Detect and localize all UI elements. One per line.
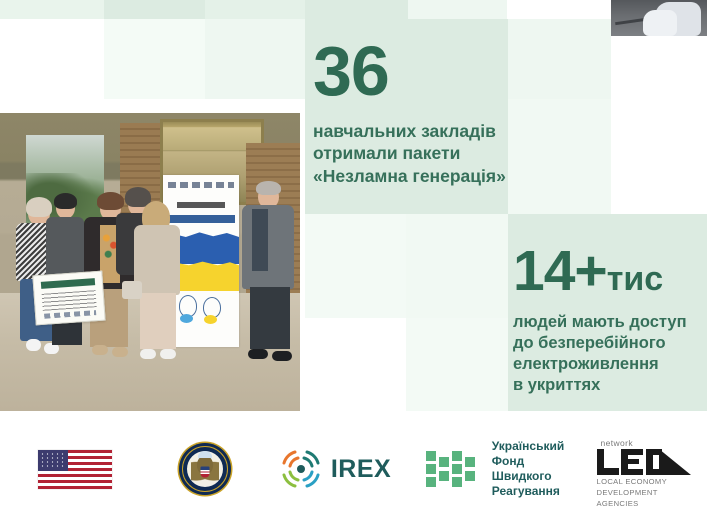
logo-footer: IREX (0, 411, 707, 521)
ufund-squares-icon (426, 447, 482, 491)
ufund-wordmark: Український Фонд Швидкого Реагування (492, 439, 564, 499)
bg-tile (0, 0, 104, 19)
logo-ukrainian-rapid-response-fund: Український Фонд Швидкого Реагування (410, 433, 580, 505)
bg-tile (305, 0, 408, 19)
stat-people-description: людей мають доступ до безперебійного еле… (513, 312, 707, 396)
stat-schools-line: «Незламна генерація» (313, 165, 525, 187)
certificate-plaque (32, 271, 105, 326)
bg-tile (205, 19, 305, 99)
stat-people-unit: тис (607, 260, 663, 298)
stat-people-line: електроживлення (513, 354, 707, 375)
bg-tile (406, 214, 508, 318)
logo-us-state-dept (150, 433, 260, 505)
stat-schools-line: навчальних закладів (313, 120, 525, 142)
ufund-line: Фонд (492, 454, 564, 469)
leda-wordmark-icon (597, 449, 691, 475)
us-state-dept-seal-icon (179, 443, 231, 495)
bg-tile (205, 0, 305, 19)
bg-tile (305, 214, 406, 318)
ufund-line: Реагування (492, 484, 564, 499)
photo-top-right-crop (611, 0, 707, 36)
logo-us-flag (0, 433, 150, 505)
logo-irex: IREX (260, 433, 410, 505)
bg-tile (104, 19, 205, 99)
leda-network-label: network (601, 438, 634, 448)
ufund-line: Швидкого (492, 469, 564, 484)
stat-schools-description: навчальних закладів отримали пакети «Нез… (313, 120, 525, 187)
bg-tile (104, 0, 205, 19)
stat-people-line: до безперебійного (513, 333, 707, 354)
stat-people: 14+тис людей мають доступ до безперебійн… (513, 243, 707, 396)
infographic-canvas: 36 навчальних закладів отримали пакети «… (0, 0, 707, 521)
stat-people-number: 14+ (513, 239, 607, 303)
stat-schools-line: отримали пакети (313, 142, 525, 164)
logo-leda-network: network (580, 433, 707, 505)
bg-tile (406, 318, 508, 411)
photo-group-with-banner (0, 113, 300, 411)
irex-wordmark: IREX (331, 455, 391, 484)
stat-people-number-row: 14+тис (513, 243, 707, 300)
stat-schools-number: 36 (313, 36, 525, 106)
leda-sub-line: DEVELOPMENT (597, 488, 668, 499)
irex-mark-icon (279, 447, 323, 491)
us-flag-icon (38, 450, 112, 489)
bg-tile (300, 113, 305, 411)
leda-sub-line: LOCAL ECONOMY (597, 477, 668, 488)
bg-tile (408, 0, 507, 19)
leda-subtitle: LOCAL ECONOMY DEVELOPMENT AGENCIES (597, 477, 668, 509)
ufund-line: Український (492, 439, 564, 454)
stat-people-line: в укриттях (513, 375, 707, 396)
bg-tile (611, 36, 707, 214)
bg-tile (305, 318, 406, 411)
stat-schools: 36 навчальних закладів отримали пакети «… (313, 36, 525, 187)
stat-people-line: людей мають доступ (513, 312, 707, 333)
leda-sub-line: AGENCIES (597, 499, 668, 510)
